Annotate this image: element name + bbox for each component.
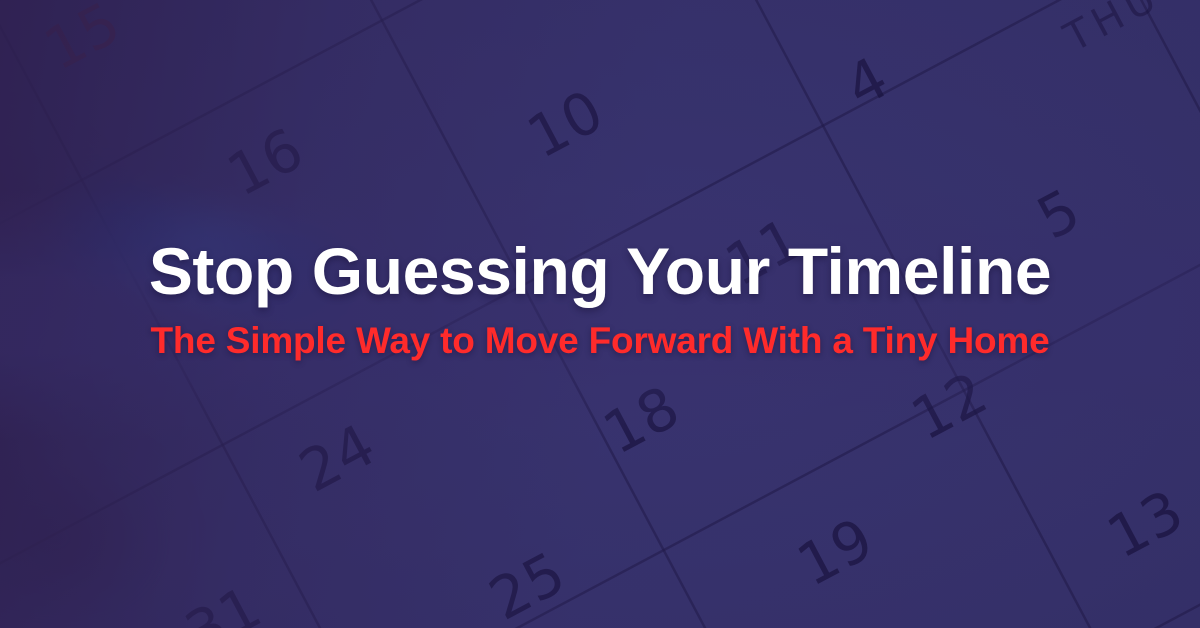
headline: Stop Guessing Your Timeline bbox=[28, 236, 1172, 307]
promo-banner: 151610451112181913242531 THU Stop Guessi… bbox=[0, 0, 1200, 628]
subheadline: The Simple Way to Move Forward With a Ti… bbox=[28, 321, 1172, 362]
copy-block: Stop Guessing Your Timeline The Simple W… bbox=[0, 236, 1200, 362]
